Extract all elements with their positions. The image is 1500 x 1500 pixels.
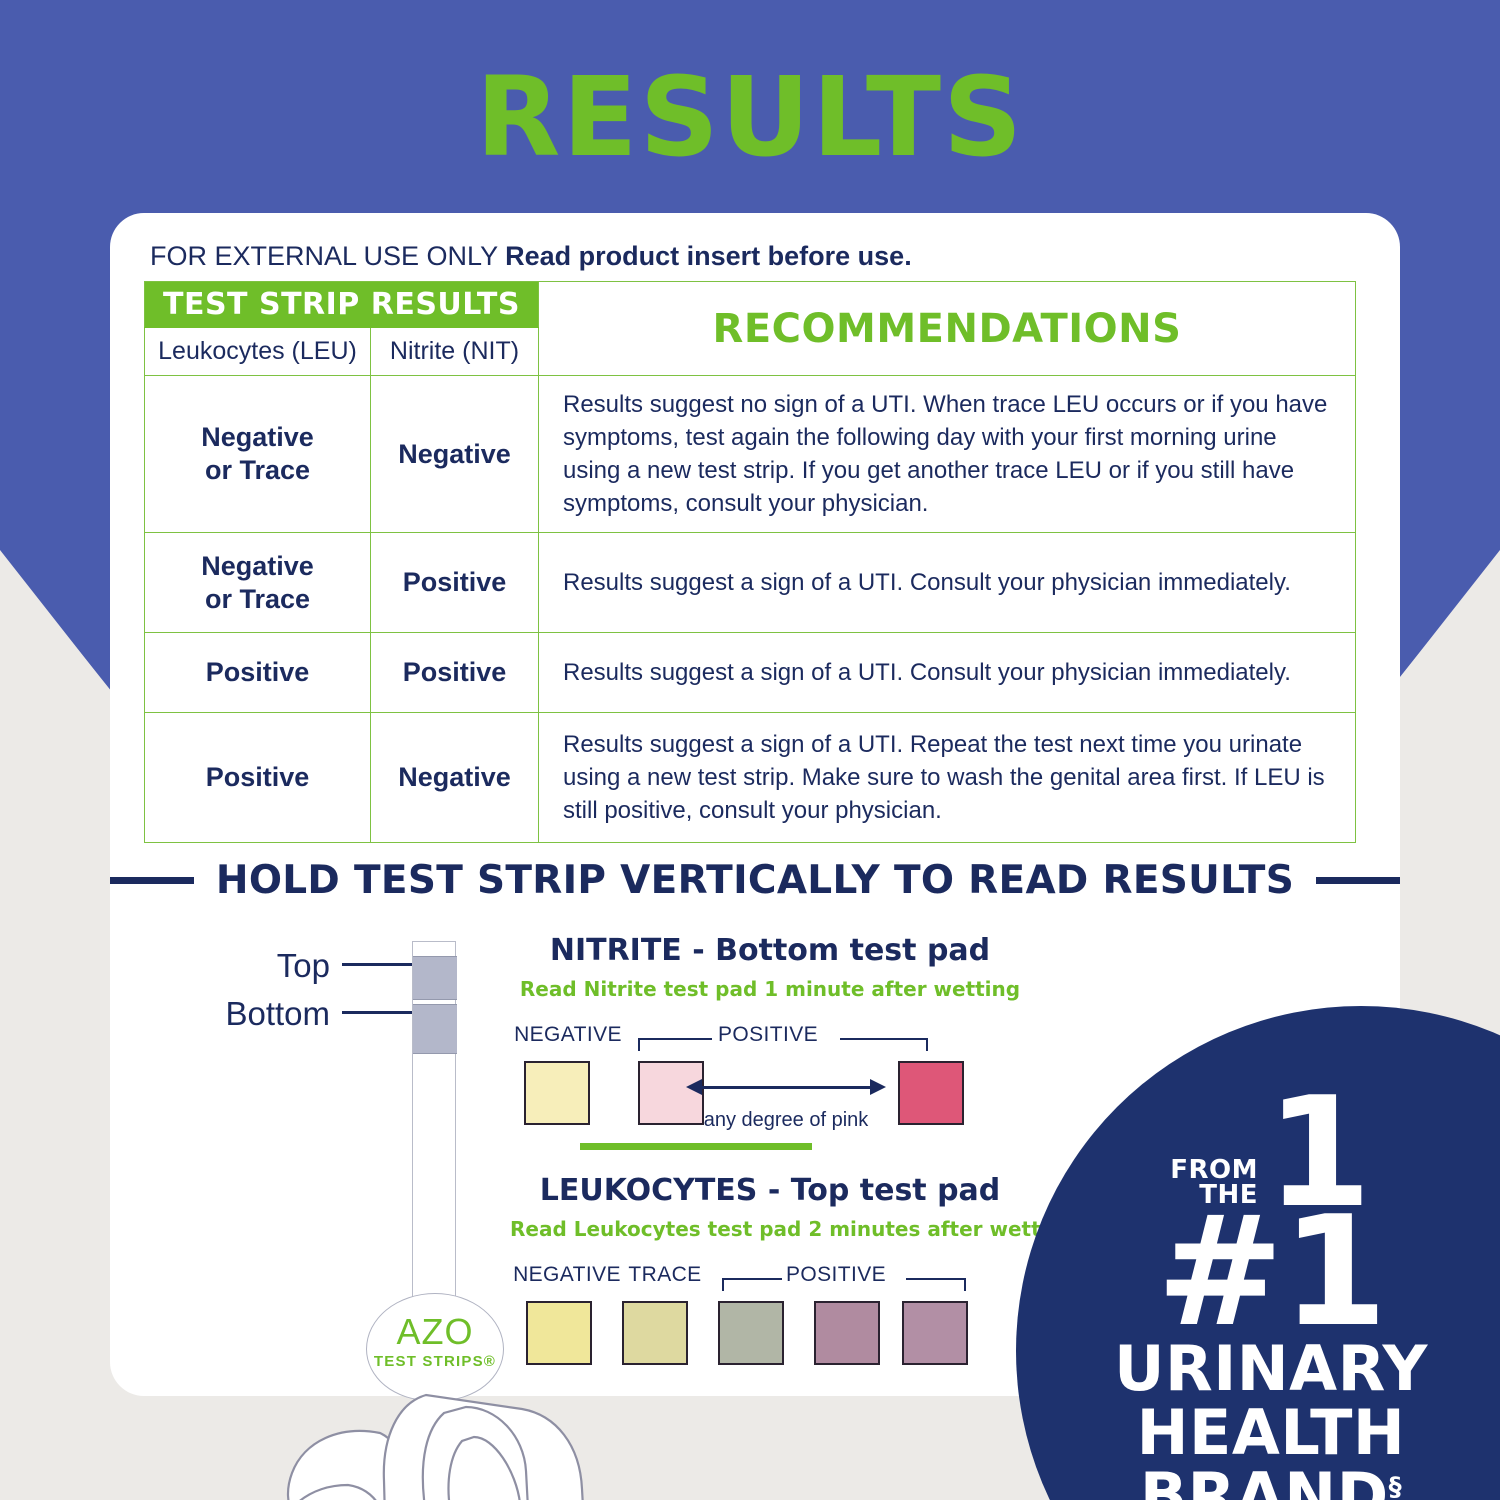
table-header-recommendations: RECOMMENDATIONS <box>539 282 1356 376</box>
leukocytes-label-trace: TRACE <box>622 1263 708 1287</box>
table-group-header: TEST STRIP RESULTS <box>145 282 539 328</box>
leukocytes-swatch-positive-1 <box>718 1301 784 1365</box>
badge-word-urinary: URINARY <box>1086 1337 1456 1400</box>
badge-word-health: HEALTH <box>1086 1401 1456 1464</box>
leukocytes-swatch-positive-2 <box>814 1301 880 1365</box>
azo-wordmark: AZO <box>366 1311 504 1353</box>
arrow-head-right-icon <box>870 1079 886 1095</box>
arrow-line <box>700 1086 872 1089</box>
results-table: TEST STRIP RESULTS RECOMMENDATIONS Leuko… <box>144 281 1356 843</box>
leukocytes-label-positive: POSITIVE <box>776 1263 896 1287</box>
nitrite-title: NITRITE - Bottom test pad <box>510 933 1030 968</box>
table-row: Negativeor Trace Negative Results sugges… <box>145 376 1356 533</box>
leukocytes-title: LEUKOCYTES - Top test pad <box>510 1173 1030 1208</box>
table-header-row: TEST STRIP RESULTS RECOMMENDATIONS <box>145 282 1356 328</box>
leukocytes-legend-labels: NEGATIVE TRACE POSITIVE <box>510 1263 1030 1297</box>
column-header-nitrite: Nitrite (NIT) <box>371 328 539 376</box>
leukocytes-title-rest: - Top test pad <box>757 1173 1000 1208</box>
leukocytes-swatch-row <box>510 1301 1030 1367</box>
cell-recommendation: Results suggest no sign of a UTI. When t… <box>539 376 1356 533</box>
cell-leukocytes: Positive <box>145 713 371 843</box>
nitrite-label-positive: POSITIVE <box>708 1023 828 1047</box>
badge-hash-one: #1 <box>1086 1207 1456 1338</box>
badge-footnote-marker: § <box>1389 1472 1403 1500</box>
nitrite-legend-labels: NEGATIVE POSITIVE <box>510 1023 1030 1057</box>
nitrite-swatch-negative <box>524 1061 590 1125</box>
cell-leukocytes: Negativeor Trace <box>145 533 371 633</box>
cell-leukocytes: Negativeor Trace <box>145 376 371 533</box>
cell-nitrite: Negative <box>371 376 539 533</box>
section-divider <box>580 1143 812 1150</box>
badge-brand-text: BRAND <box>1140 1459 1389 1500</box>
azo-logo-cap: AZO TEST STRIPS® <box>366 1293 504 1401</box>
strip-label-bottom: Bottom <box>170 995 330 1033</box>
heading-rule-right <box>1316 877 1400 884</box>
cell-nitrite: Positive <box>371 633 539 713</box>
leukocytes-swatch-negative <box>526 1301 592 1365</box>
column-header-leukocytes: Leukocytes (LEU) <box>145 328 371 376</box>
strip-pad-bottom <box>413 1004 457 1054</box>
cell-recommendation: Results suggest a sign of a UTI. Consult… <box>539 533 1356 633</box>
cell-recommendation: Results suggest a sign of a UTI. Consult… <box>539 633 1356 713</box>
leukocytes-swatch-trace <box>622 1301 688 1365</box>
leukocytes-title-strong: LEUKOCYTES <box>540 1173 758 1208</box>
page-title: RESULTS <box>0 62 1500 172</box>
table-row: Negativeor Trace Positive Results sugges… <box>145 533 1356 633</box>
nitrite-title-strong: NITRITE <box>550 933 682 968</box>
cell-leukocytes: Positive <box>145 633 371 713</box>
cell-nitrite: Negative <box>371 713 539 843</box>
disclaimer-bold: Read product insert before use. <box>505 241 912 271</box>
hold-strip-heading: HOLD TEST STRIP VERTICALLY TO READ RESUL… <box>110 858 1400 903</box>
disclaimer-plain: FOR EXTERNAL USE ONLY <box>150 241 498 271</box>
nitrite-legend-section: NITRITE - Bottom test pad Read Nitrite t… <box>510 933 1030 1127</box>
badge-word-brand: BRAND§ <box>1086 1464 1456 1500</box>
disclaimer-line: FOR EXTERNAL USE ONLY Read product inser… <box>150 241 912 272</box>
leukocytes-swatch-positive-3 <box>902 1301 968 1365</box>
azo-sub-wordmark: TEST STRIPS® <box>366 1353 504 1370</box>
table-row: Positive Positive Results suggest a sign… <box>145 633 1356 713</box>
heading-rule-left <box>110 877 194 884</box>
hold-strip-heading-text: HOLD TEST STRIP VERTICALLY TO READ RESUL… <box>216 858 1294 903</box>
badge-content: FROM THE 1 #1 URINARY HEALTH BRAND§ <box>1086 1094 1456 1500</box>
nitrite-label-negative: NEGATIVE <box>510 1023 626 1047</box>
nitrite-swatch-positive-dark <box>898 1061 964 1125</box>
nitrite-swatch-row: any degree of pink <box>510 1061 1030 1127</box>
cell-nitrite: Positive <box>371 533 539 633</box>
pink-range-arrow: any degree of pink <box>686 1075 886 1101</box>
nitrite-subtitle: Read Nitrite test pad 1 minute after wet… <box>510 977 1030 1001</box>
arrow-caption: any degree of pink <box>686 1109 886 1132</box>
leukocytes-subtitle: Read Leukocytes test pad 2 minutes after… <box>510 1217 1030 1241</box>
table-row: Positive Negative Results suggest a sign… <box>145 713 1356 843</box>
strip-label-top: Top <box>170 947 330 985</box>
leukocytes-label-negative: NEGATIVE <box>506 1263 628 1287</box>
leukocytes-legend-section: LEUKOCYTES - Top test pad Read Leukocyte… <box>510 1173 1030 1367</box>
strip-pad-top <box>413 956 457 1000</box>
strip-body <box>412 941 456 1301</box>
nitrite-title-rest: - Bottom test pad <box>682 933 990 968</box>
cell-recommendation: Results suggest a sign of a UTI. Repeat … <box>539 713 1356 843</box>
